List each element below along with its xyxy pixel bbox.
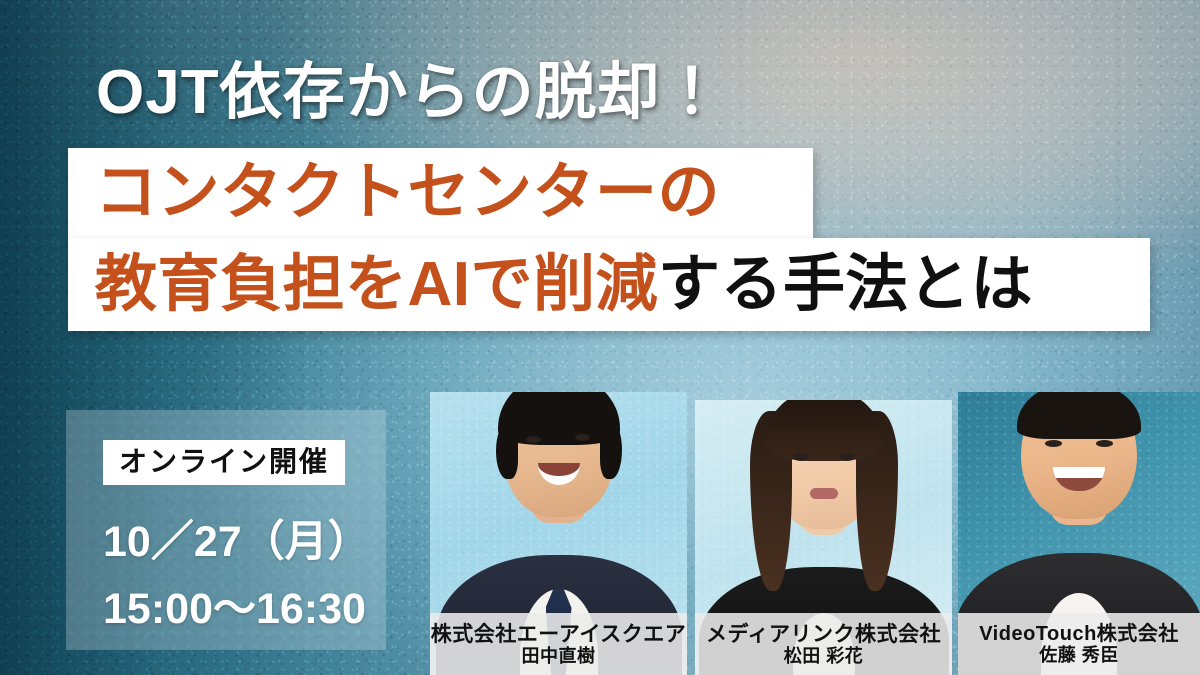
speaker-card-3: VideoTouch株式会社 佐藤 秀臣: [958, 392, 1200, 675]
speaker-card-2: メディアリンク株式会社 松田 彩花: [695, 400, 952, 675]
speaker-company-1: 株式会社エーアイスクエア: [431, 624, 686, 645]
event-time: 15:00〜16:30: [103, 588, 366, 631]
headline-line-3-rest: する手法とは: [658, 254, 1033, 316]
speaker-card-1: 株式会社エーアイスクエア 田中直樹: [430, 392, 687, 675]
speaker-name-1: 田中直樹: [522, 647, 596, 665]
headline-line-2: コンタクトセンターの: [95, 162, 720, 224]
speaker-company-3: VideoTouch株式会社: [979, 624, 1179, 644]
event-date: 10／27（月）: [103, 521, 371, 564]
speaker-nameplate-2: メディアリンク株式会社 松田 彩花: [695, 613, 952, 675]
speaker-company-2: メディアリンク株式会社: [706, 624, 941, 645]
headline-box-2: コンタクトセンターの: [68, 148, 813, 238]
speaker-name-3: 佐藤 秀臣: [1039, 646, 1119, 664]
online-format-badge: オンライン開催: [103, 440, 345, 485]
speaker-name-2: 松田 彩花: [784, 647, 864, 665]
speaker-nameplate-1: 株式会社エーアイスクエア 田中直樹: [430, 613, 687, 675]
headline-line-1: OJT依存からの脱却！: [96, 62, 724, 124]
headline-line-3-highlight: 教育負担をAIで削減: [95, 254, 658, 316]
webinar-banner: OJT依存からの脱却！ コンタクトセンターの 教育負担をAIで削減する手法とは …: [0, 0, 1200, 675]
speaker-nameplate-3: VideoTouch株式会社 佐藤 秀臣: [958, 613, 1200, 675]
headline-box-3: 教育負担をAIで削減する手法とは: [68, 238, 1150, 331]
